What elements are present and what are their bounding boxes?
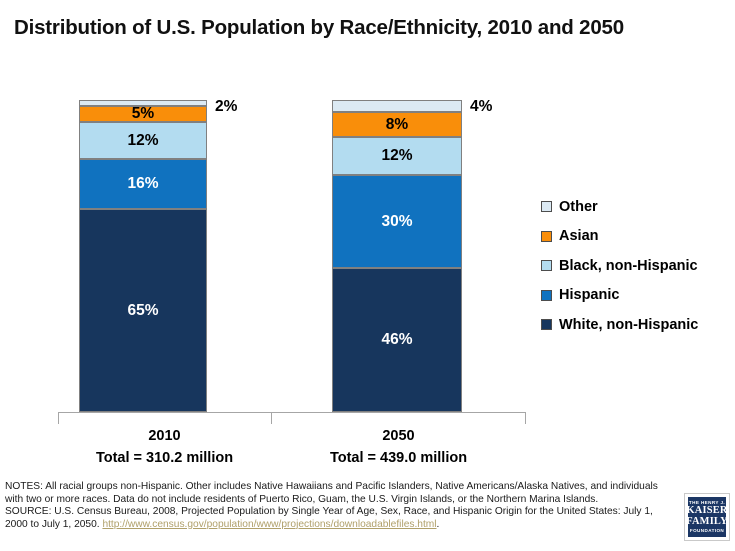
- footer-notes: NOTES: All racial groups non-Hispanic. O…: [5, 481, 675, 531]
- logo-inner: THE HENRY J. KAISER FAMILY FOUNDATION: [687, 496, 727, 538]
- bar-segment-label: 16%: [127, 176, 158, 192]
- legend-item-label: Asian: [559, 228, 599, 244]
- category-total: Total = 310.2 million: [58, 447, 271, 469]
- legend-item-black-non-hispanic[interactable]: Black, non-Hispanic: [541, 251, 698, 281]
- bar-segment-label: 12%: [381, 148, 412, 164]
- logo-line-3: FAMILY: [686, 517, 728, 527]
- bar-segment-label: 46%: [381, 332, 412, 348]
- bar-segment-label: 8%: [386, 117, 408, 133]
- bar-segment-label: 12%: [127, 133, 158, 149]
- bar-segment: [332, 100, 462, 112]
- logo-line-2: KAISER: [686, 506, 727, 516]
- bar-stack-2010: 5%12%16%65%: [79, 100, 207, 412]
- legend-swatch-icon: [541, 231, 552, 242]
- source-url-link[interactable]: http://www.census.gov/population/www/pro…: [102, 519, 436, 530]
- legend-item-white-non-hispanic[interactable]: White, non-Hispanic: [541, 310, 698, 340]
- bar-outside-label: 2%: [215, 98, 237, 116]
- legend-item-label: Hispanic: [559, 287, 619, 303]
- bar-stack-2050: 8%12%30%46%: [332, 100, 462, 412]
- legend-item-label: White, non-Hispanic: [559, 317, 698, 333]
- bar-segment: 8%: [332, 112, 462, 137]
- category-name: 2010: [58, 425, 271, 447]
- x-axis-line: [58, 412, 525, 413]
- bar-segment: 12%: [79, 122, 207, 159]
- category-total: Total = 439.0 million: [292, 447, 505, 469]
- notes-text: NOTES: All racial groups non-Hispanic. O…: [5, 481, 658, 505]
- axis-tick-right: [525, 412, 526, 424]
- axis-tick-left: [58, 412, 59, 424]
- legend-item-hispanic[interactable]: Hispanic: [541, 281, 698, 311]
- bar-segment-label: 65%: [127, 303, 158, 319]
- bar-segment-label: 5%: [132, 106, 154, 122]
- legend-item-asian[interactable]: Asian: [541, 222, 698, 252]
- category-label-2050: 2050 Total = 439.0 million: [292, 425, 505, 469]
- bar-segment: 16%: [79, 159, 207, 209]
- bar-segment: 12%: [332, 137, 462, 174]
- bar-segment: 30%: [332, 175, 462, 269]
- bar-segment-label: 30%: [381, 214, 412, 230]
- legend-swatch-icon: [541, 201, 552, 212]
- legend-item-other[interactable]: Other: [541, 192, 698, 222]
- kaiser-family-foundation-logo: THE HENRY J. KAISER FAMILY FOUNDATION: [684, 493, 730, 541]
- bar-segment: 46%: [332, 268, 462, 412]
- legend-item-label: Other: [559, 199, 598, 215]
- legend-item-label: Black, non-Hispanic: [559, 258, 698, 274]
- category-label-2010: 2010 Total = 310.2 million: [58, 425, 271, 469]
- legend-swatch-icon: [541, 319, 552, 330]
- bar-segment: 5%: [79, 106, 207, 122]
- category-name: 2050: [292, 425, 505, 447]
- legend-swatch-icon: [541, 290, 552, 301]
- chart-legend: OtherAsianBlack, non-HispanicHispanicWhi…: [541, 192, 698, 340]
- logo-line-4: FOUNDATION: [690, 529, 724, 534]
- bar-segment: 65%: [79, 209, 207, 412]
- legend-swatch-icon: [541, 260, 552, 271]
- axis-tick-middle: [271, 412, 272, 424]
- bar-outside-label: 4%: [470, 98, 492, 116]
- source-suffix: .: [437, 519, 440, 530]
